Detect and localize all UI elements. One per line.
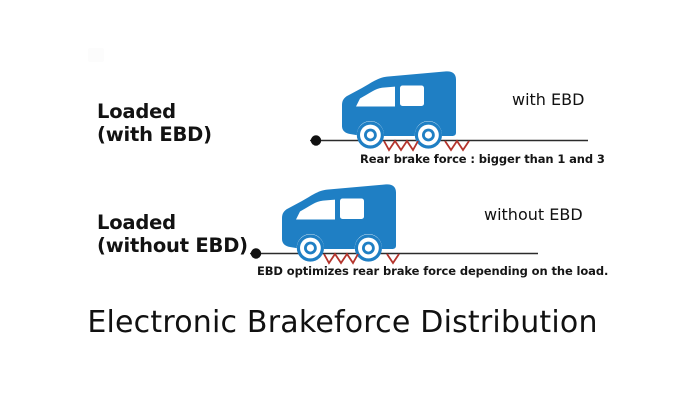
wheel-front-icon [357, 121, 384, 148]
page-title: Electronic Brakeforce Distribution [0, 305, 685, 340]
row-label-line1: Loaded [97, 100, 176, 123]
wheel-front-icon [297, 234, 324, 261]
scene-loaded-without-ebd [240, 168, 490, 268]
brake-force-spring-front-icon [324, 254, 358, 263]
van-side-window [400, 86, 424, 107]
row-label-loaded-without-ebd: Loaded (without EBD) [97, 211, 248, 257]
wheel-rear-icon [355, 234, 382, 261]
van-scene-svg [240, 168, 540, 278]
row-label-line2: (without EBD) [97, 234, 248, 257]
van-scene-svg [300, 55, 590, 165]
van-icon [342, 71, 456, 136]
van-side-window [340, 199, 364, 220]
row-label-line2: (with EBD) [97, 123, 212, 146]
van-icon [282, 184, 396, 249]
brake-force-spring-rear-icon [445, 141, 469, 150]
scene-loaded-with-ebd [300, 55, 540, 155]
diagram-canvas: Loaded (with EBD) with EBD Rear brake fo… [0, 0, 685, 420]
brake-force-spring-front-icon [384, 141, 418, 150]
watermark-artifact [88, 48, 104, 62]
row-label-loaded-with-ebd: Loaded (with EBD) [97, 100, 212, 146]
row-label-line1: Loaded [97, 211, 176, 234]
origin-dot [251, 248, 261, 258]
brake-force-spring-rear-icon [387, 254, 399, 263]
origin-dot [311, 135, 321, 145]
wheel-rear-icon [415, 121, 442, 148]
